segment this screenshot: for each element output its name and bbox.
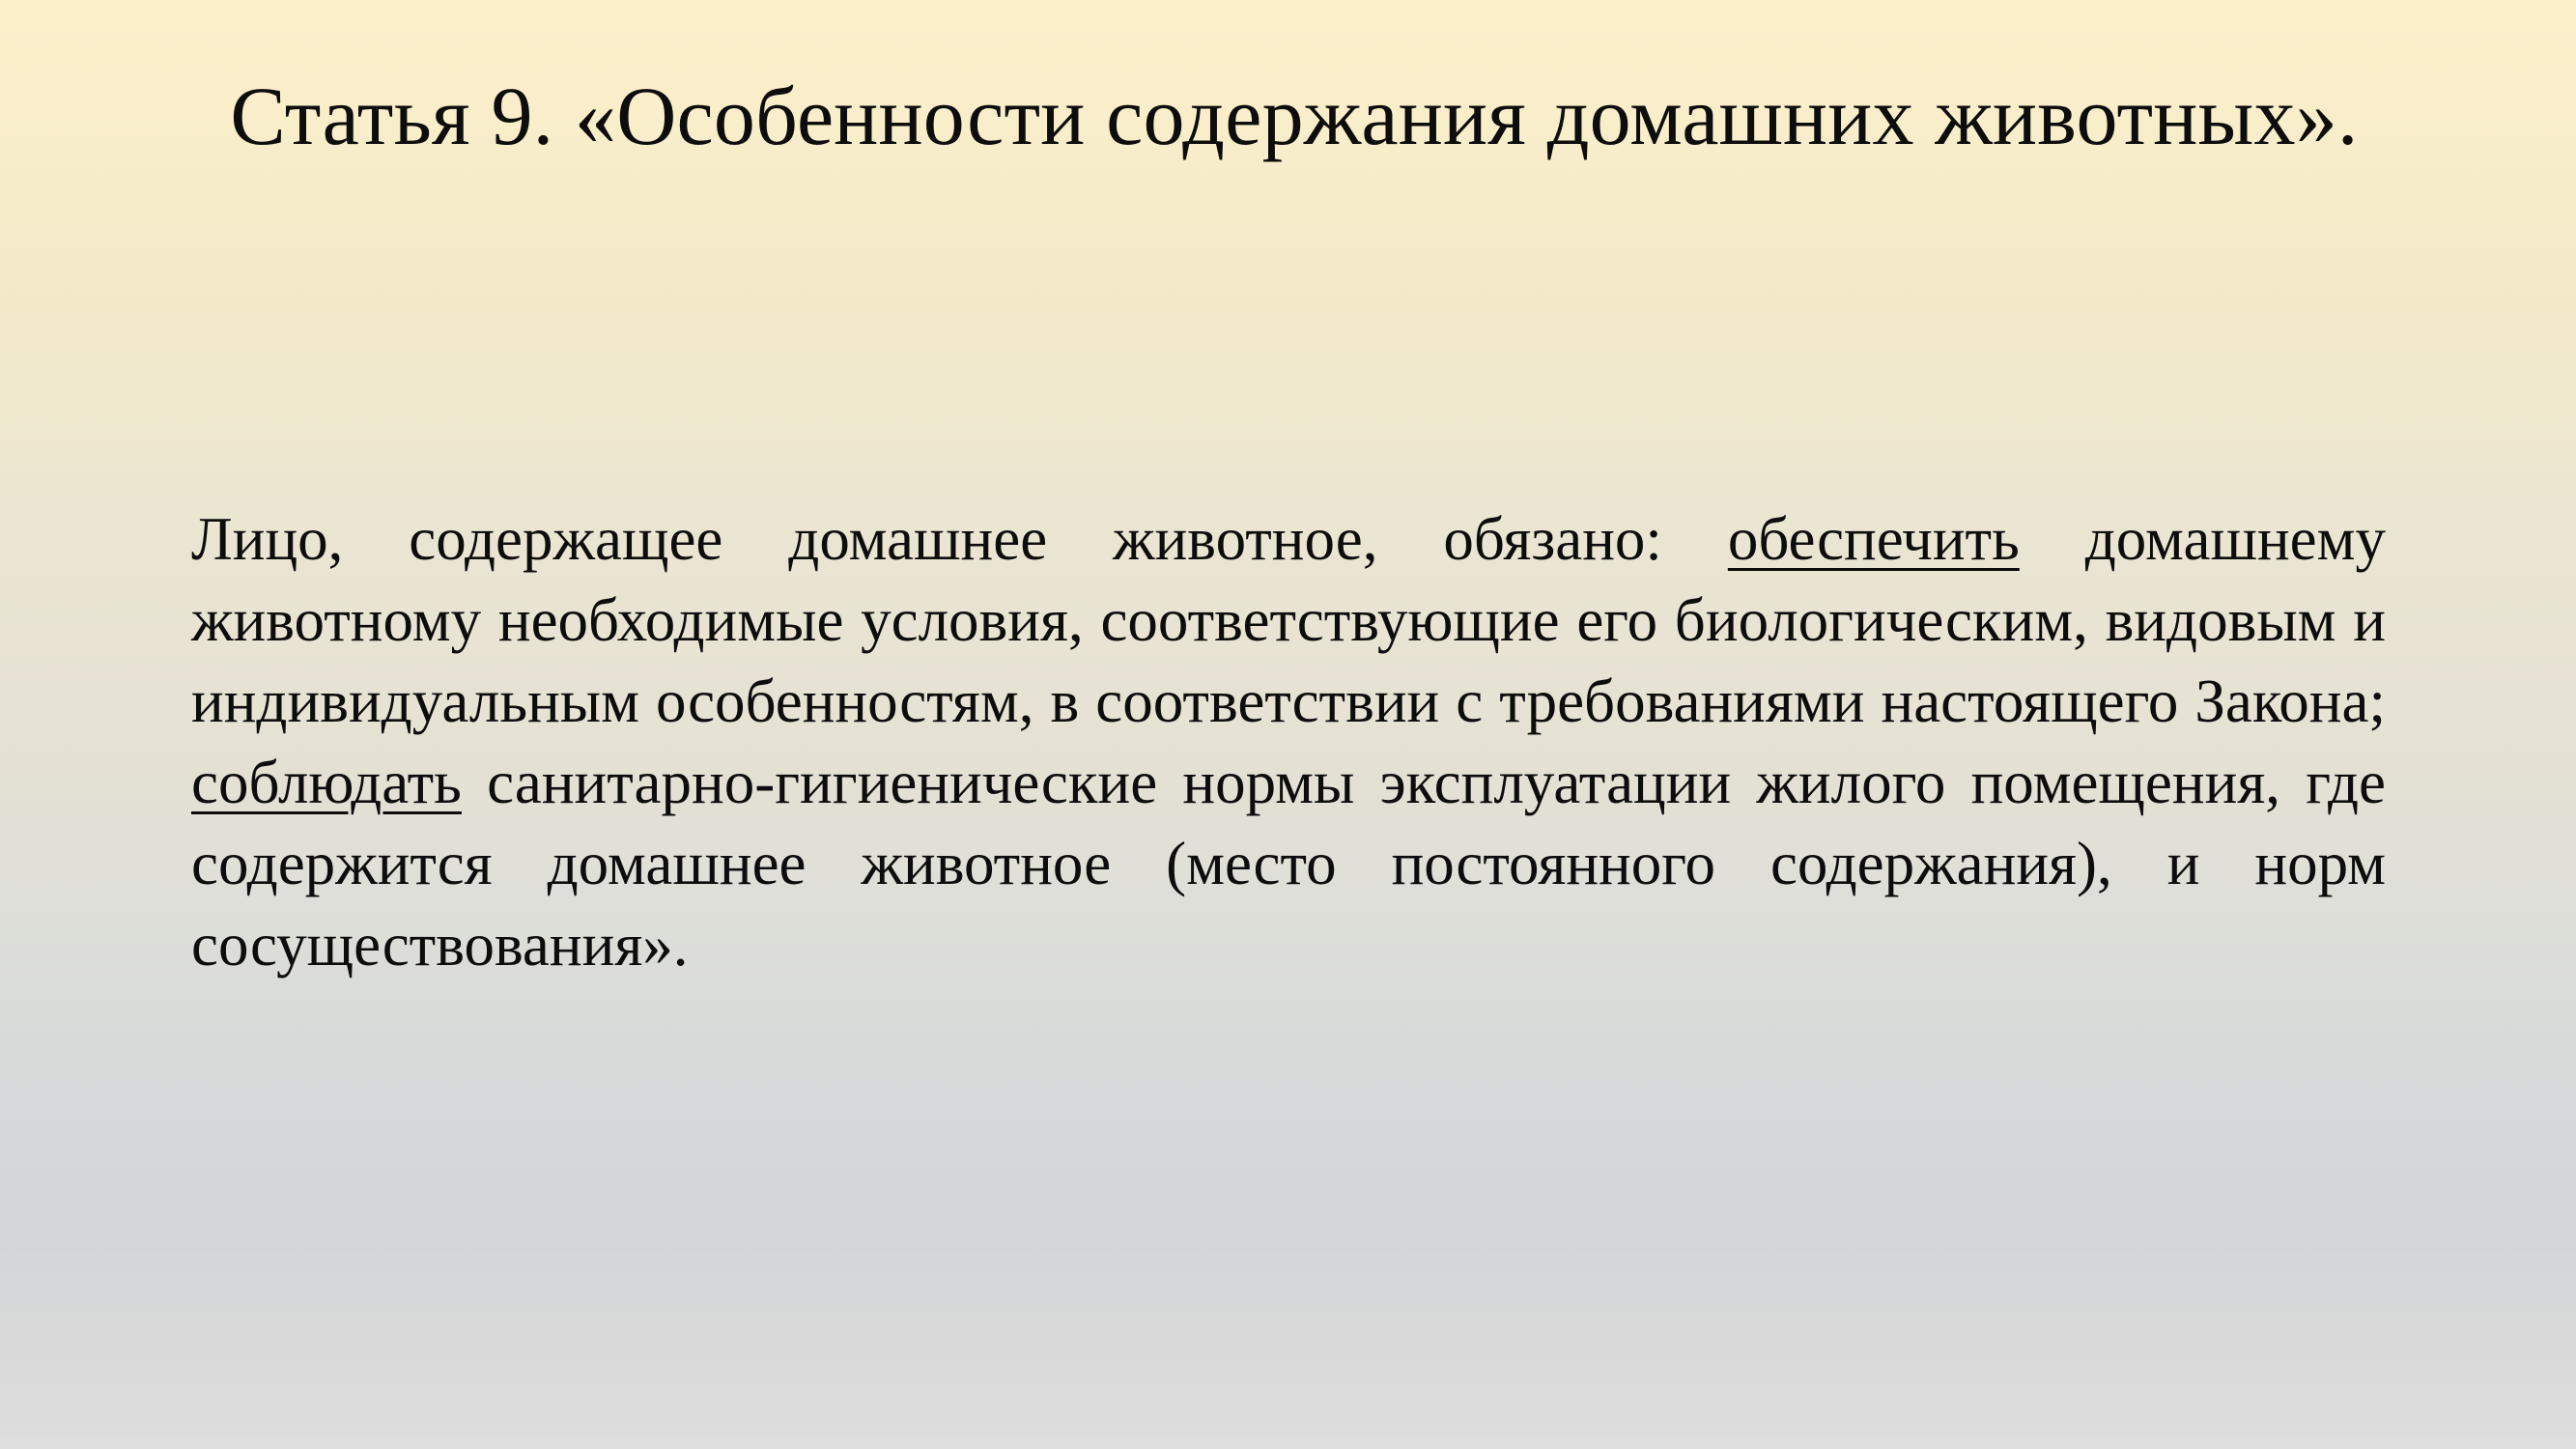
slide-title-block: Статья 9. «Особенности содержания домашн… xyxy=(145,68,2444,165)
body-segment-underlined-soblyudat: соблюдать xyxy=(191,749,462,816)
body-paragraph: Лицо, содержащее домашнее животное, обяз… xyxy=(191,498,2386,985)
body-segment-1: Лицо, содержащее домашнее животное, обяз… xyxy=(191,505,1728,573)
body-segment-3: санитарно-гигиенические нормы эксплуатац… xyxy=(191,749,2386,979)
page-title: Статья 9. «Особенности содержания домашн… xyxy=(145,68,2444,165)
body-segment-underlined-obespechit: обеспечить xyxy=(1728,505,2020,573)
presentation-slide: Статья 9. «Особенности содержания домашн… xyxy=(0,0,2576,1449)
slide-body-block: Лицо, содержащее домашнее животное, обяз… xyxy=(191,498,2386,985)
